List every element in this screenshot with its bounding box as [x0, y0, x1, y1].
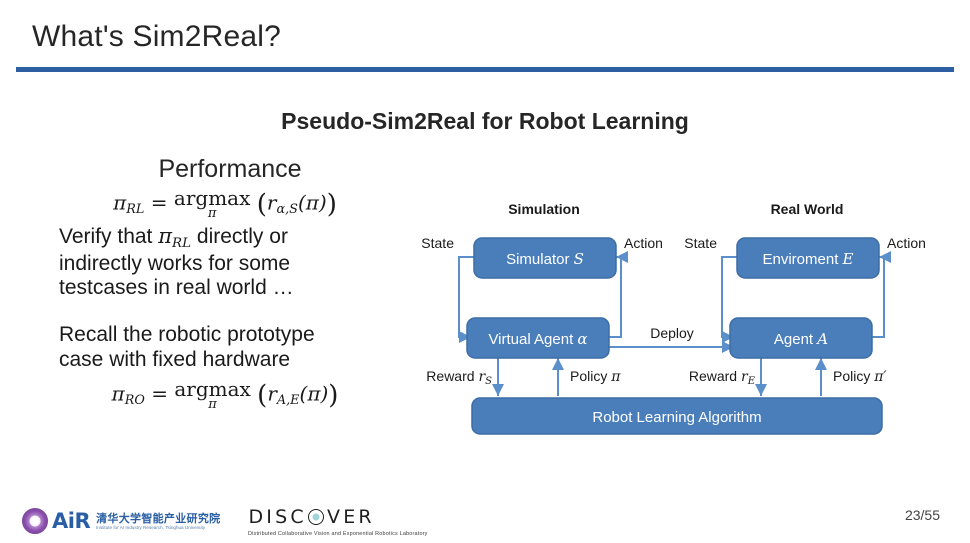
discover-logo: DISC VER Distributed Collaborative Visio… — [248, 508, 386, 535]
eq1-argmax: argmax π — [174, 188, 250, 220]
node-simulator-label: Simulator S — [506, 250, 584, 268]
eq2-argmax: argmax π — [174, 379, 250, 411]
paragraph-verify: Verify that πRL directly or indirectly w… — [59, 224, 405, 301]
paragraph-verify-line2: indirectly works for some — [59, 252, 290, 275]
node-environment-label: Enviroment E — [763, 250, 854, 268]
edge-label-deploy: Deploy — [650, 325, 694, 341]
air-wordmark: AiR — [52, 509, 90, 533]
edge-label-policy-right: Policy π′ — [833, 368, 887, 385]
eq1-open-paren: ( — [257, 190, 267, 220]
tsinghua-seal-icon — [22, 508, 48, 534]
eq2-function-subscript: A,E — [277, 393, 300, 408]
paragraph-spacer — [45, 301, 405, 319]
air-institute-text: 清华大学智能产业研究院 Institute for AI Industry Re… — [96, 513, 220, 530]
eq1-function-subscript: α,S — [276, 202, 297, 217]
eq1-argmax-subscript: π — [208, 207, 217, 220]
group-title-simulation: Simulation — [508, 201, 580, 217]
eq1-argmax-op: argmax — [174, 188, 250, 208]
edge-label-action-left: Action — [624, 235, 663, 251]
air-institute-chinese: 清华大学智能产业研究院 — [96, 513, 220, 526]
eq2-equals: = — [151, 381, 168, 405]
discover-wordmark-part2: VER — [327, 508, 375, 527]
title-underline-rule — [16, 67, 954, 72]
eq1-equals: = — [151, 191, 168, 215]
discover-wordmark: DISC VER — [248, 508, 386, 527]
paragraph-verify-symbol-subscript: RL — [172, 236, 191, 251]
paragraph-verify-symbol: π — [158, 224, 172, 248]
discover-o-icon — [308, 509, 324, 525]
air-logo: AiR 清华大学智能产业研究院 Institute for AI Industr… — [22, 508, 220, 534]
equation-pi-ro: πRO = argmax π (rA,E(π)) — [45, 379, 405, 411]
eq1-arg: (π) — [298, 191, 327, 215]
air-institute-english: Institute for AI Industry Research, Tsin… — [96, 525, 255, 531]
edge-label-reward-left: Reward rS — [426, 368, 492, 387]
node-agent-label: Agent A — [774, 330, 828, 348]
eq2-argmax-subscript: π — [208, 398, 217, 411]
page-number: 23/55 — [905, 507, 940, 523]
eq2-arg: (π) — [300, 381, 329, 405]
paragraph-recall: Recall the robotic prototype case with f… — [59, 323, 405, 373]
node-virtual-agent-label: Virtual Agent α — [488, 330, 587, 348]
paragraph-verify-pre: Verify that — [59, 225, 158, 248]
group-title-real-world: Real World — [771, 201, 844, 217]
edge-label-reward-right: Reward rE — [689, 368, 756, 387]
eq1-close-paren: ) — [327, 190, 337, 220]
eq2-close-paren: ) — [328, 380, 338, 410]
paragraph-verify-line3: testcases in real world … — [59, 276, 294, 299]
edge-label-policy-left: Policy π — [570, 368, 621, 385]
discover-tagline: Distributed Collaborative Vision and Exp… — [248, 530, 428, 537]
footer-logo-row: AiR 清华大学智能产业研究院 Institute for AI Industr… — [22, 503, 387, 539]
eq2-open-paren: ( — [257, 380, 267, 410]
edge-label-state-left: State — [421, 235, 454, 251]
left-content-column: Performance πRL = argmax π (rα,S(π)) Ver… — [45, 155, 405, 411]
eq1-lhs-subscript: RL — [126, 202, 144, 217]
edge-label-action-right: Action — [887, 235, 926, 251]
slide-canvas: What's Sim2Real? Pseudo-Sim2Real for Rob… — [0, 0, 970, 543]
eq1-lhs: π — [113, 191, 126, 215]
performance-heading: Performance — [45, 155, 405, 184]
discover-wordmark-part1: DISC — [248, 508, 306, 527]
page-title: What's Sim2Real? — [32, 20, 281, 54]
eq2-function: r — [267, 381, 277, 405]
sim2real-block-diagram: Simulation Real World Simulator S — [410, 190, 960, 450]
paragraph-recall-line2: case with fixed hardware — [59, 348, 290, 371]
eq2-argmax-op: argmax — [174, 379, 250, 399]
equation-pi-rl: πRL = argmax π (rα,S(π)) — [45, 188, 405, 220]
eq2-lhs-subscript: RO — [125, 393, 145, 408]
edge-label-state-right: State — [684, 235, 717, 251]
paragraph-verify-post: directly or — [191, 225, 288, 248]
node-robot-learning-algorithm-label: Robot Learning Algorithm — [592, 409, 761, 426]
slide-subtitle: Pseudo-Sim2Real for Robot Learning — [0, 108, 970, 135]
eq2-lhs: π — [112, 381, 125, 405]
paragraph-recall-line1: Recall the robotic prototype — [59, 323, 315, 346]
